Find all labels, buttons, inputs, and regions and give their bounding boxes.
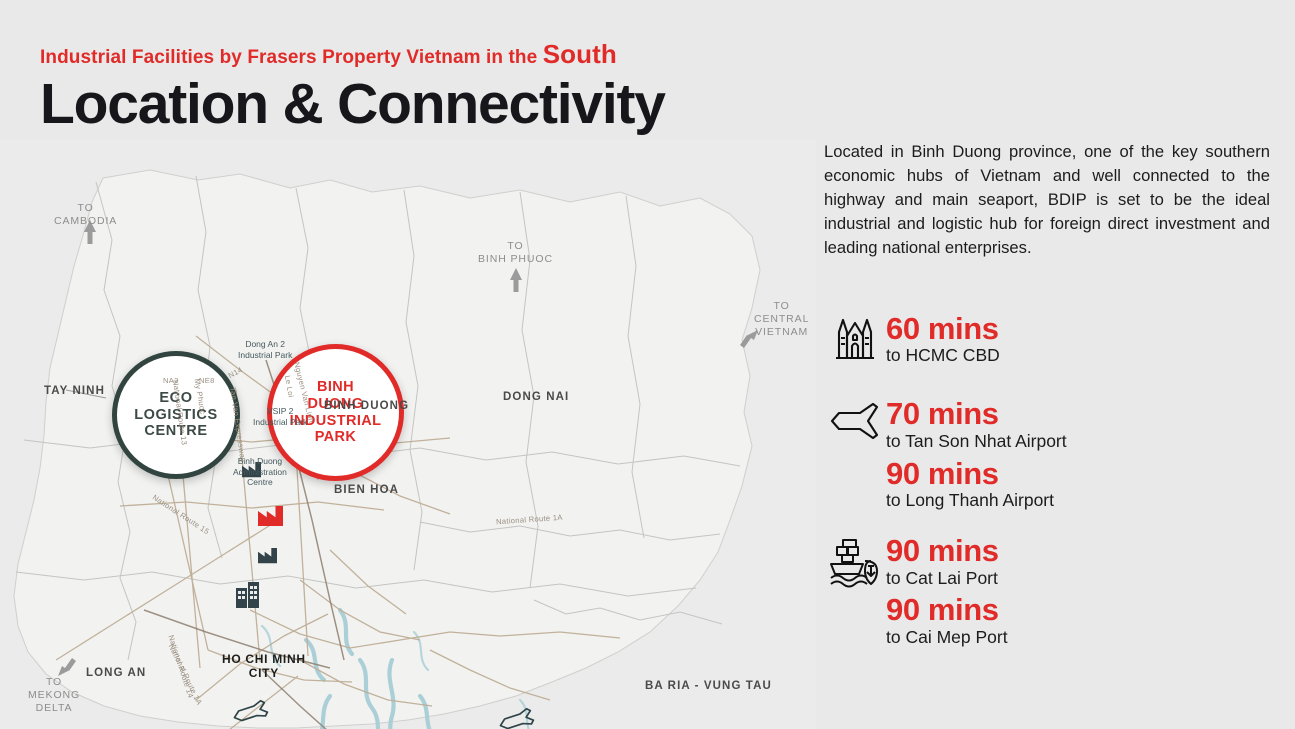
badge-bdip-line-1: BINH bbox=[290, 379, 382, 396]
stat-label-tan-son-nhat: to Tan Son Nhat Airport bbox=[886, 431, 1276, 453]
badge-bdip-line-3: INDUSTRIAL bbox=[290, 413, 382, 430]
stat-value-hcmc-cbd: 60 mins bbox=[886, 312, 1276, 345]
map-panel[interactable]: ECO LOGISTICS CENTRE BINH DUONG INDUSTRI… bbox=[0, 140, 816, 729]
seaport-icon bbox=[824, 534, 886, 588]
page-kicker: Industrial Facilities by Frasers Propert… bbox=[40, 40, 800, 69]
stat-texts-airports: 70 mins to Tan Son Nhat Airport 90 mins … bbox=[886, 397, 1276, 516]
page-header: Industrial Facilities by Frasers Propert… bbox=[40, 40, 800, 135]
stat-texts-hcmc-cbd: 60 mins to HCMC CBD bbox=[886, 312, 1276, 371]
stat-label-hcmc-cbd: to HCMC CBD bbox=[886, 345, 1276, 367]
travel-times-list: 60 mins to HCMC CBD 70 mins to Tan Son N… bbox=[824, 312, 1276, 659]
map-badge-binh-duong-industrial-park[interactable]: BINH DUONG INDUSTRIAL PARK bbox=[267, 344, 404, 481]
stat-label-cai-mep-port: to Cai Mep Port bbox=[886, 627, 1276, 649]
map-badge-eco-logistics-centre[interactable]: ECO LOGISTICS CENTRE bbox=[112, 351, 240, 479]
stat-row-hcmc-cbd: 60 mins to HCMC CBD bbox=[824, 312, 1276, 371]
stat-value-cai-mep-port: 90 mins bbox=[886, 593, 1276, 626]
kicker-prefix: Industrial Facilities by Frasers Propert… bbox=[40, 47, 543, 68]
badge-eco-line-1: ECO bbox=[134, 390, 218, 407]
info-panel: Located in Binh Duong province, one of t… bbox=[824, 140, 1276, 729]
stat-texts-ports: 90 mins to Cat Lai Port 90 mins to Cai M… bbox=[886, 534, 1276, 653]
badge-eco-line-3: CENTRE bbox=[134, 423, 218, 440]
badge-eco-line-2: LOGISTICS bbox=[134, 407, 218, 424]
stat-value-long-thanh: 90 mins bbox=[886, 457, 1276, 490]
stat-label-cat-lai-port: to Cat Lai Port bbox=[886, 568, 1276, 590]
badge-bdip-line-4: PARK bbox=[290, 429, 382, 446]
stat-label-long-thanh: to Long Thanh Airport bbox=[886, 490, 1276, 512]
stat-row-ports: 90 mins to Cat Lai Port 90 mins to Cai M… bbox=[824, 534, 1276, 653]
stat-value-tan-son-nhat: 70 mins bbox=[886, 397, 1276, 430]
cathedral-icon bbox=[824, 312, 886, 360]
badge-bdip-line-2: DUONG bbox=[290, 396, 382, 413]
page-title: Location & Connectivity bbox=[40, 75, 800, 135]
stat-row-airports: 70 mins to Tan Son Nhat Airport 90 mins … bbox=[824, 397, 1276, 516]
stat-value-cat-lai-port: 90 mins bbox=[886, 534, 1276, 567]
kicker-highlight: South bbox=[543, 39, 617, 69]
airplane-icon bbox=[824, 397, 886, 441]
info-blurb: Located in Binh Duong province, one of t… bbox=[824, 140, 1270, 260]
